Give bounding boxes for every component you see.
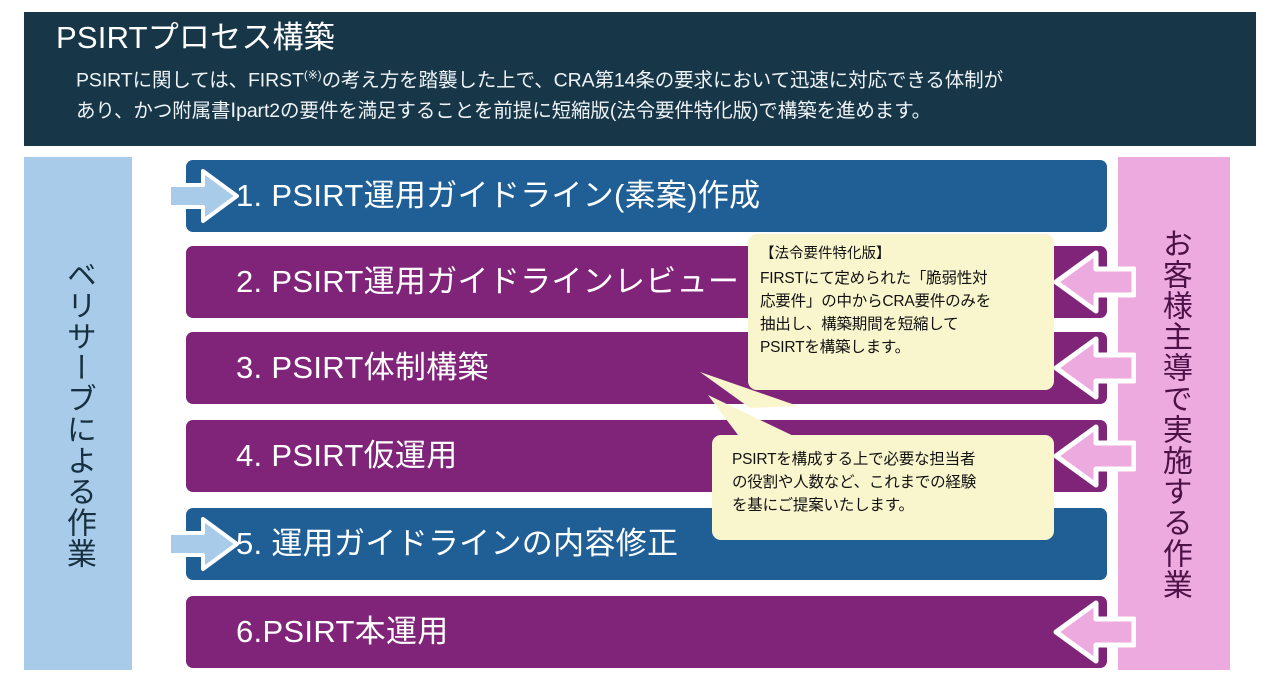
process-step-2-label: 2. PSIRT運用ガイドラインレビュー	[186, 265, 739, 299]
process-step-1[interactable]: 1. PSIRT運用ガイドライン(素案)作成	[186, 160, 1107, 232]
callout-box-2: PSIRTを構成する上で必要な担当者 の役割や人数など、これまでの経験 を基にご…	[712, 435, 1054, 540]
callout-2-body: PSIRTを構成する上で必要な担当者 の役割や人数など、これまでの経験 を基にご…	[732, 448, 1040, 517]
page-title: PSIRTプロセス構築	[56, 18, 1238, 58]
header-description: PSIRTに関しては、FIRST(※)の考え方を踏襲した上で、CRA第14条の要…	[76, 60, 1238, 126]
callout-1-title: 【法令要件特化版】	[760, 244, 1042, 265]
process-step-4-label: 4. PSIRT仮運用	[186, 439, 458, 473]
process-step-5-label: 5. 運用ガイドラインの内容修正	[186, 527, 678, 561]
right-responsibility-panel: お客様主導で実施する作業	[1118, 157, 1230, 670]
right-panel-label: お客様主導で実施する作業	[1158, 228, 1190, 600]
header-banner: PSIRTプロセス構築 PSIRTに関しては、FIRST(※)の考え方を踏襲した…	[24, 12, 1256, 146]
left-panel-label: ベリサーブによる作業	[62, 259, 94, 569]
callout-box-1: 【法令要件特化版】 FIRSTにて定められた「脆弱性対 応要件」の中からCRA要…	[748, 234, 1054, 390]
process-step-6-label: 6.PSIRT本運用	[186, 615, 449, 649]
process-step-1-label: 1. PSIRT運用ガイドライン(素案)作成	[186, 179, 760, 213]
callout-1-body: FIRSTにて定められた「脆弱性対 応要件」の中からCRA要件のみを 抽出し、構…	[760, 267, 1042, 359]
left-responsibility-panel: ベリサーブによる作業	[24, 157, 132, 670]
process-step-6[interactable]: 6.PSIRT本運用	[186, 596, 1107, 668]
process-step-3-label: 3. PSIRT体制構築	[186, 351, 489, 385]
